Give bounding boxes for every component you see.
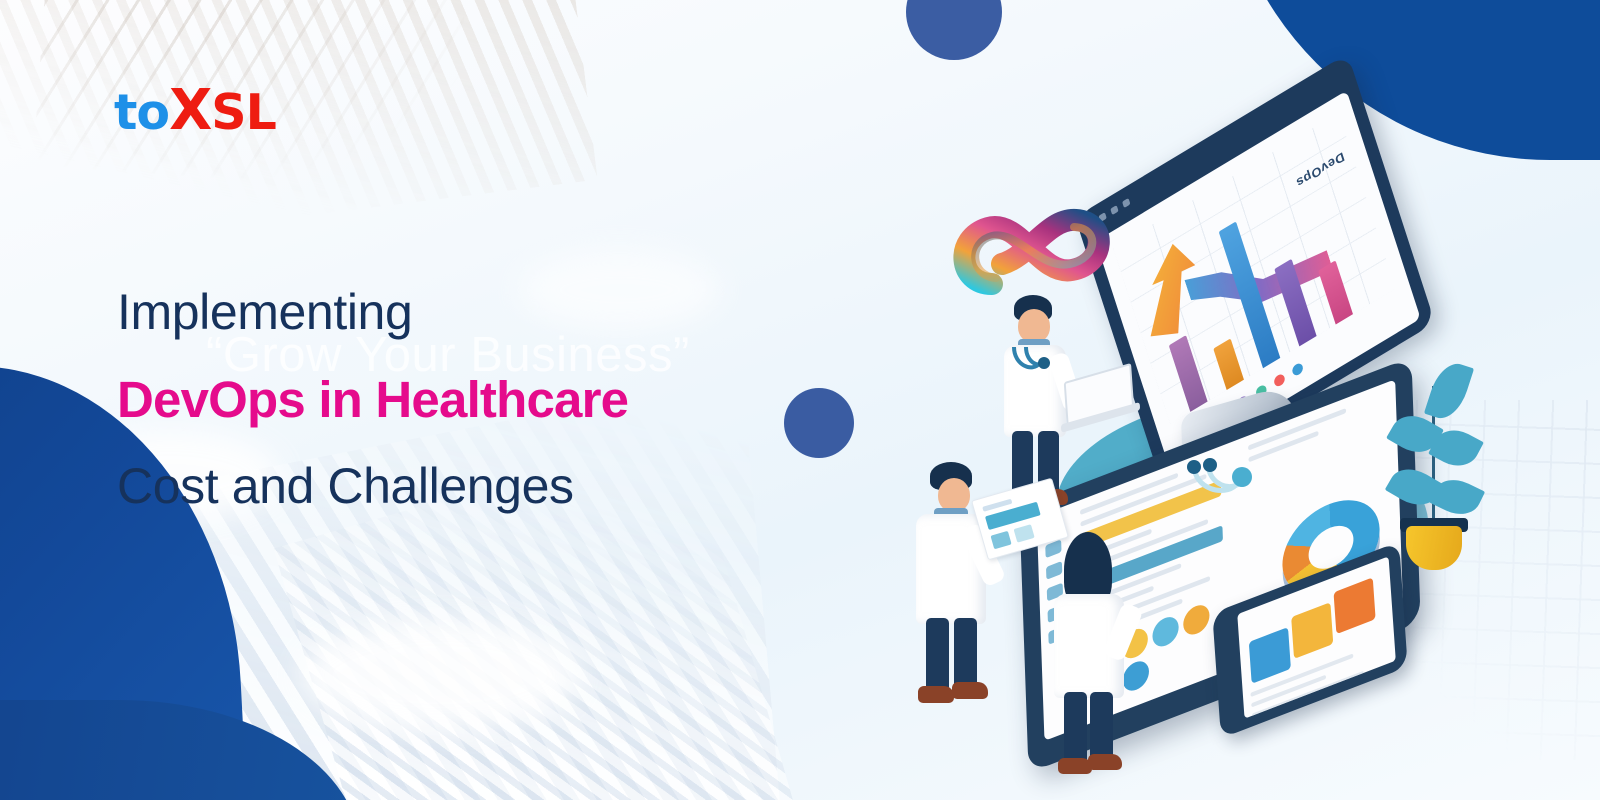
potted-plant (1370, 370, 1500, 570)
doctor-female-shoe-1 (1058, 758, 1092, 774)
phone-card-orange (1334, 577, 1376, 634)
headline-block: Implementing DevOps in Healthcare Cost a… (117, 287, 837, 511)
logo-text-x: X (169, 78, 211, 143)
person-doctor-female (1028, 532, 1158, 772)
phone-card-yellow (1291, 602, 1333, 659)
headline-line-1: Implementing (117, 287, 837, 337)
monitor-chart-grid (1113, 113, 1396, 424)
doctor-stethoscope (1006, 343, 1058, 387)
handheld-laptop (1064, 363, 1135, 429)
logo-text-to: to (114, 84, 169, 141)
doctor-female-legs-1 (1064, 692, 1087, 762)
doctor-left-shoe-1 (918, 686, 954, 703)
doctor-left-head (938, 478, 970, 512)
doctor-left-legs-2 (954, 618, 977, 688)
doctor-left-legs-1 (926, 618, 949, 690)
phone-card-blue (1249, 627, 1291, 684)
hero-illustration: DevOps (880, 0, 1600, 800)
plant-leaf-1 (1424, 358, 1474, 424)
blog-banner: toXSL “Grow Your Business” Implementing … (0, 0, 1600, 800)
plant-pot (1406, 526, 1462, 570)
doctor-left-shoe-2 (952, 682, 988, 699)
stethoscope-icon (1180, 455, 1270, 515)
headline-line-2: DevOps in Healthcare (117, 374, 837, 425)
left-blue-wave-fill (0, 700, 360, 800)
doctor-female-legs-2 (1090, 692, 1113, 760)
cloud-2 (300, 620, 580, 730)
logo-text-sl: SL (211, 84, 276, 141)
doctor-head (1018, 309, 1050, 343)
arch-beams-top (0, 0, 598, 258)
headline-line-3: Cost and Challenges (117, 461, 837, 511)
doctor-female-shoe-2 (1088, 754, 1122, 770)
plant-leaf-5 (1429, 472, 1485, 523)
person-doctor-left (894, 462, 1024, 712)
toxsl-logo[interactable]: toXSL (114, 83, 276, 139)
